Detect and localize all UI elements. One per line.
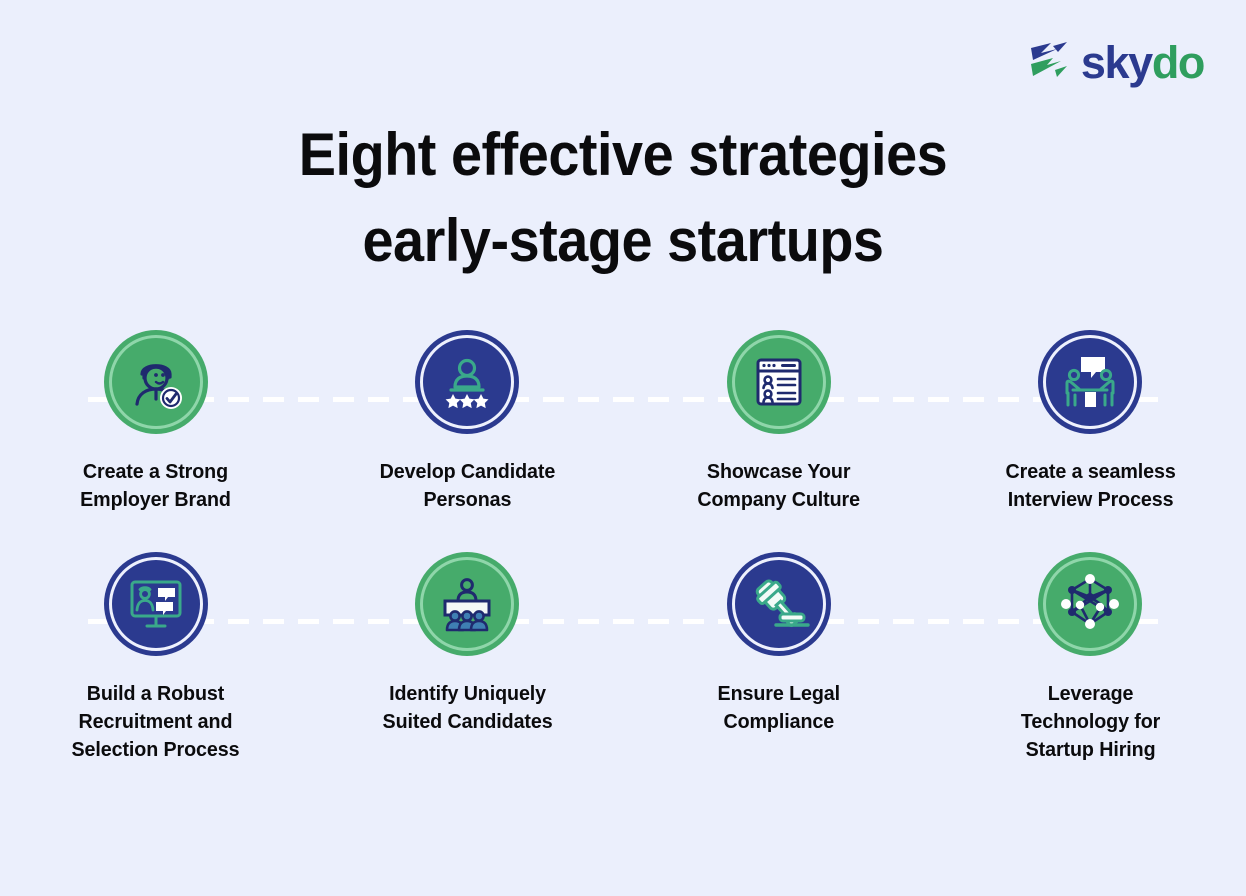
strategy-item-6: Identify UniquelySuited Candidates [312, 552, 624, 764]
strategy-item-7: Ensure LegalCompliance [623, 552, 935, 764]
page-title: Eight effective strategies early-stage s… [0, 112, 1246, 285]
network-nodes-icon [1038, 552, 1142, 656]
person-with-check-badge-icon [104, 330, 208, 434]
strategy-label-2: Develop CandidatePersonas [379, 458, 555, 514]
strategy-item-3: Showcase YourCompany Culture [623, 330, 935, 514]
strategy-item-2: Develop CandidatePersonas [312, 330, 624, 514]
person-with-three-stars-icon [415, 330, 519, 434]
strategy-label-1: Create a StrongEmployer Brand [80, 458, 231, 514]
strategy-label-5: Build a RobustRecruitment andSelection P… [72, 680, 240, 764]
interview-table-speech-bubble-icon [1038, 330, 1142, 434]
strategies-grid: Create a StrongEmployer Brand [0, 330, 1246, 764]
strategy-label-4: Create a seamlessInterview Process [1005, 458, 1175, 514]
strategy-item-1: Create a StrongEmployer Brand [0, 330, 312, 514]
browser-window-profiles-icon [727, 330, 831, 434]
strategy-label-3: Showcase YourCompany Culture [697, 458, 860, 514]
strategy-label-6: Identify UniquelySuited Candidates [382, 680, 552, 736]
strategy-item-5: Build a RobustRecruitment andSelection P… [0, 552, 312, 764]
strategy-item-8: LeverageTechnology forStartup Hiring [935, 552, 1246, 764]
strategies-row-2: Build a RobustRecruitment andSelection P… [0, 552, 1246, 764]
gavel-icon [727, 552, 831, 656]
strategy-item-4: Create a seamlessInterview Process [935, 330, 1246, 514]
page-title-line-2: early-stage startups [44, 198, 1203, 284]
brand-wordmark-sky: sky [1081, 37, 1152, 88]
brand-logo: skydo [1027, 40, 1204, 85]
strategies-row-1: Create a StrongEmployer Brand [0, 330, 1246, 514]
page-title-line-1: Eight effective strategies [44, 112, 1203, 198]
strategy-label-7: Ensure LegalCompliance [718, 680, 840, 736]
brand-wordmark-do: do [1152, 37, 1204, 88]
monitor-person-chat-icon [104, 552, 208, 656]
presenter-with-audience-icon [415, 552, 519, 656]
strategy-label-8: LeverageTechnology forStartup Hiring [1021, 680, 1160, 764]
brand-wordmark: skydo [1081, 40, 1204, 85]
skydo-chevron-logo-icon [1027, 40, 1071, 85]
